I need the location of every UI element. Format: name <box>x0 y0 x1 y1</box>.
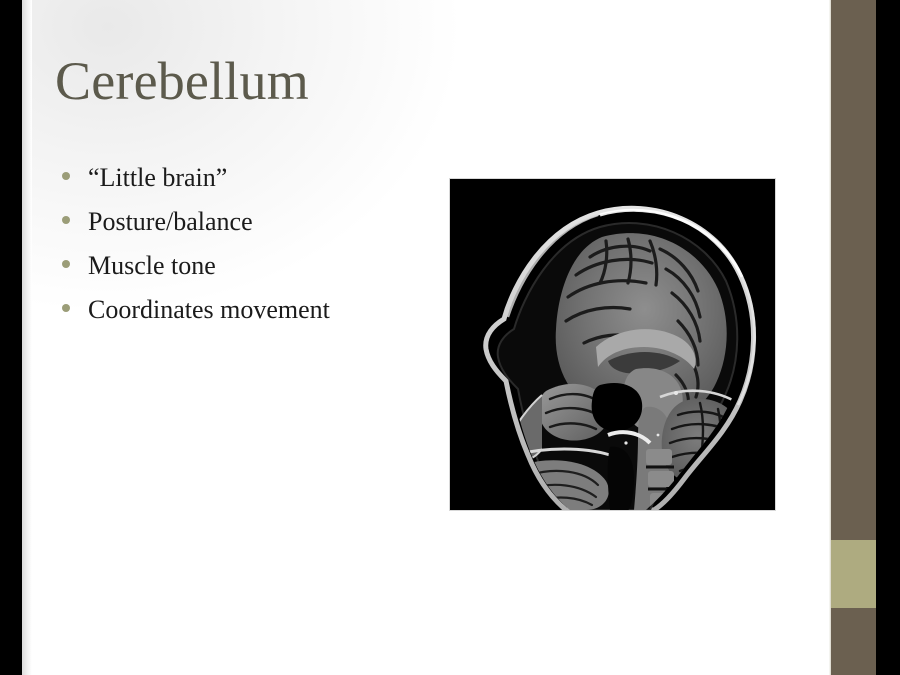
list-item: “Little brain” <box>62 165 330 209</box>
letterbox-right <box>876 0 900 675</box>
list-item-label: Muscle tone <box>88 253 216 279</box>
page-title: Cerebellum <box>55 53 309 110</box>
list-item: Coordinates movement <box>62 297 330 341</box>
brain-mri-image <box>450 179 775 510</box>
list-item: Posture/balance <box>62 209 330 253</box>
bullet-list: “Little brain” Posture/balance Muscle to… <box>62 165 330 341</box>
bullet-dot-icon <box>62 260 70 268</box>
list-item: Muscle tone <box>62 253 330 297</box>
bullet-dot-icon <box>62 304 70 312</box>
slide-viewer: Cerebellum “Little brain” Posture/balanc… <box>0 0 900 675</box>
letterbox-left <box>0 0 22 675</box>
list-item-label: Posture/balance <box>88 209 253 235</box>
sagittal-mri-illustration <box>450 179 775 510</box>
bullet-dot-icon <box>62 172 70 180</box>
decorative-side-bar-accent <box>831 540 876 608</box>
bullet-dot-icon <box>62 216 70 224</box>
slide-edge-shading <box>22 0 32 675</box>
list-item-label: Coordinates movement <box>88 297 330 323</box>
list-item-label: “Little brain” <box>88 165 227 191</box>
